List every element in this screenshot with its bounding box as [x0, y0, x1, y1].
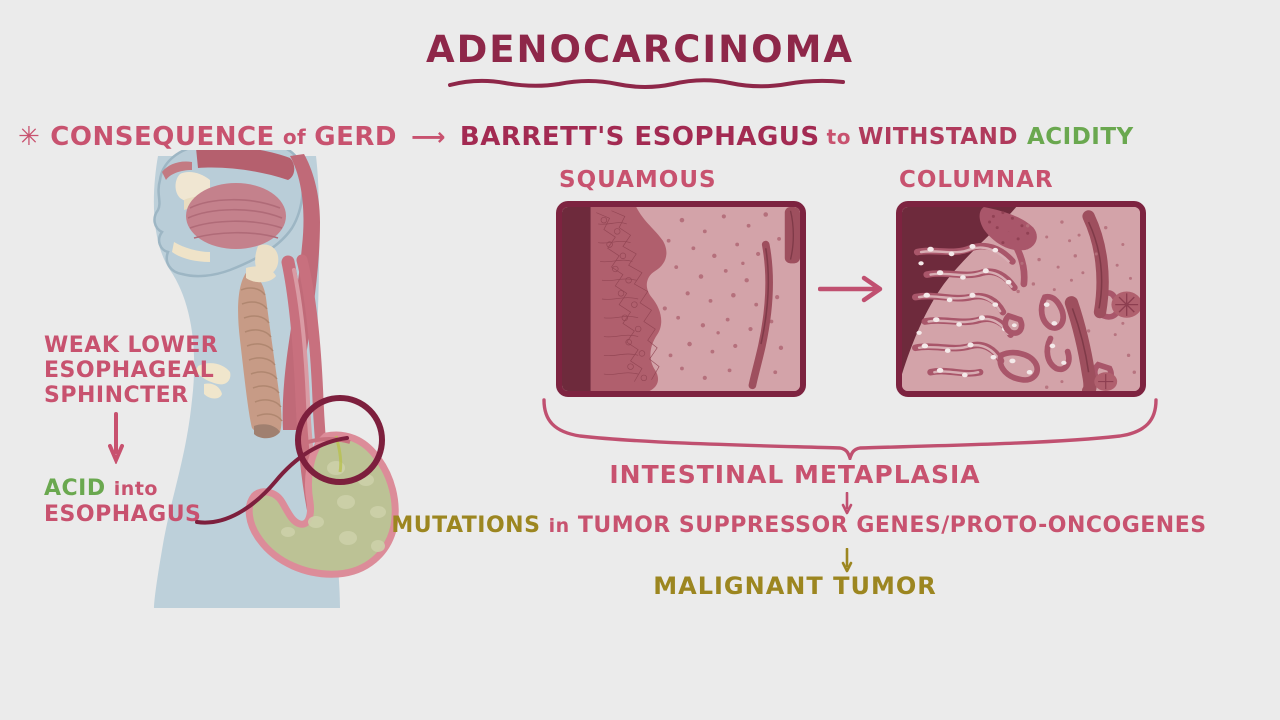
malignant-tumor-label: MALIGNANT TUMOR	[310, 572, 1280, 600]
acid-esophagus-label: ACID into ESOPHAGUS	[44, 476, 201, 527]
weak-les-label: WEAK LOWER ESOPHAGEAL SPHINCTER	[44, 333, 218, 408]
statement-acidity: ACIDITY	[1027, 124, 1134, 150]
columnar-histology-panel[interactable]	[896, 201, 1146, 397]
page-title: ADENOCARCINOMA	[0, 28, 1280, 71]
statement-gerd: GERD	[314, 122, 397, 152]
squamous-histology-panel[interactable]	[556, 201, 806, 397]
mutations-in-word: in	[549, 515, 570, 537]
mutations-target: TUMOR SUPPRESSOR GENES/PROTO-ONCOGENES	[578, 513, 1207, 538]
statement-consequence: CONSEQUENCE	[50, 122, 275, 152]
weak-les-line1: WEAK LOWER	[44, 333, 218, 358]
acid-word: ACID	[44, 476, 106, 501]
title-underline	[447, 76, 847, 90]
arrow-les-to-acid-icon	[108, 412, 124, 464]
acid-line: ACID into	[44, 476, 201, 502]
acid-into-word: into	[114, 478, 158, 500]
statement-withstand: WITHSTAND	[858, 124, 1018, 150]
statement-of: of	[283, 125, 306, 149]
statement-arrow-icon: ⟶	[411, 123, 446, 151]
mutations-line: MUTATIONS in TUMOR SUPPRESSOR GENES/PROT…	[318, 513, 1280, 538]
esophagus-word: ESOPHAGUS	[44, 502, 201, 527]
leader-line-to-ge-junction	[195, 430, 395, 560]
metaplasia-transition-arrow-icon	[818, 272, 892, 306]
mutations-word: MUTATIONS	[391, 513, 540, 538]
weak-les-line2: ESOPHAGEAL	[44, 358, 218, 383]
arrow-mutations-to-tumor-icon	[840, 548, 854, 574]
panels-grouping-brace	[540, 398, 1160, 460]
intestinal-metaplasia-label: INTESTINAL METAPLASIA	[310, 460, 1280, 489]
weak-les-line3: SPHINCTER	[44, 383, 218, 408]
statement-barretts: BARRETT'S ESOPHAGUS	[460, 122, 820, 152]
squamous-label: SQUAMOUS	[559, 167, 717, 193]
columnar-label: COLUMNAR	[899, 167, 1054, 193]
bullet-star-icon: ✳	[18, 122, 40, 152]
slide-canvas: ADENOCARCINOMA ✳ CONSEQUENCE of GERD ⟶ B…	[0, 0, 1280, 720]
statement-to: to	[827, 125, 851, 149]
